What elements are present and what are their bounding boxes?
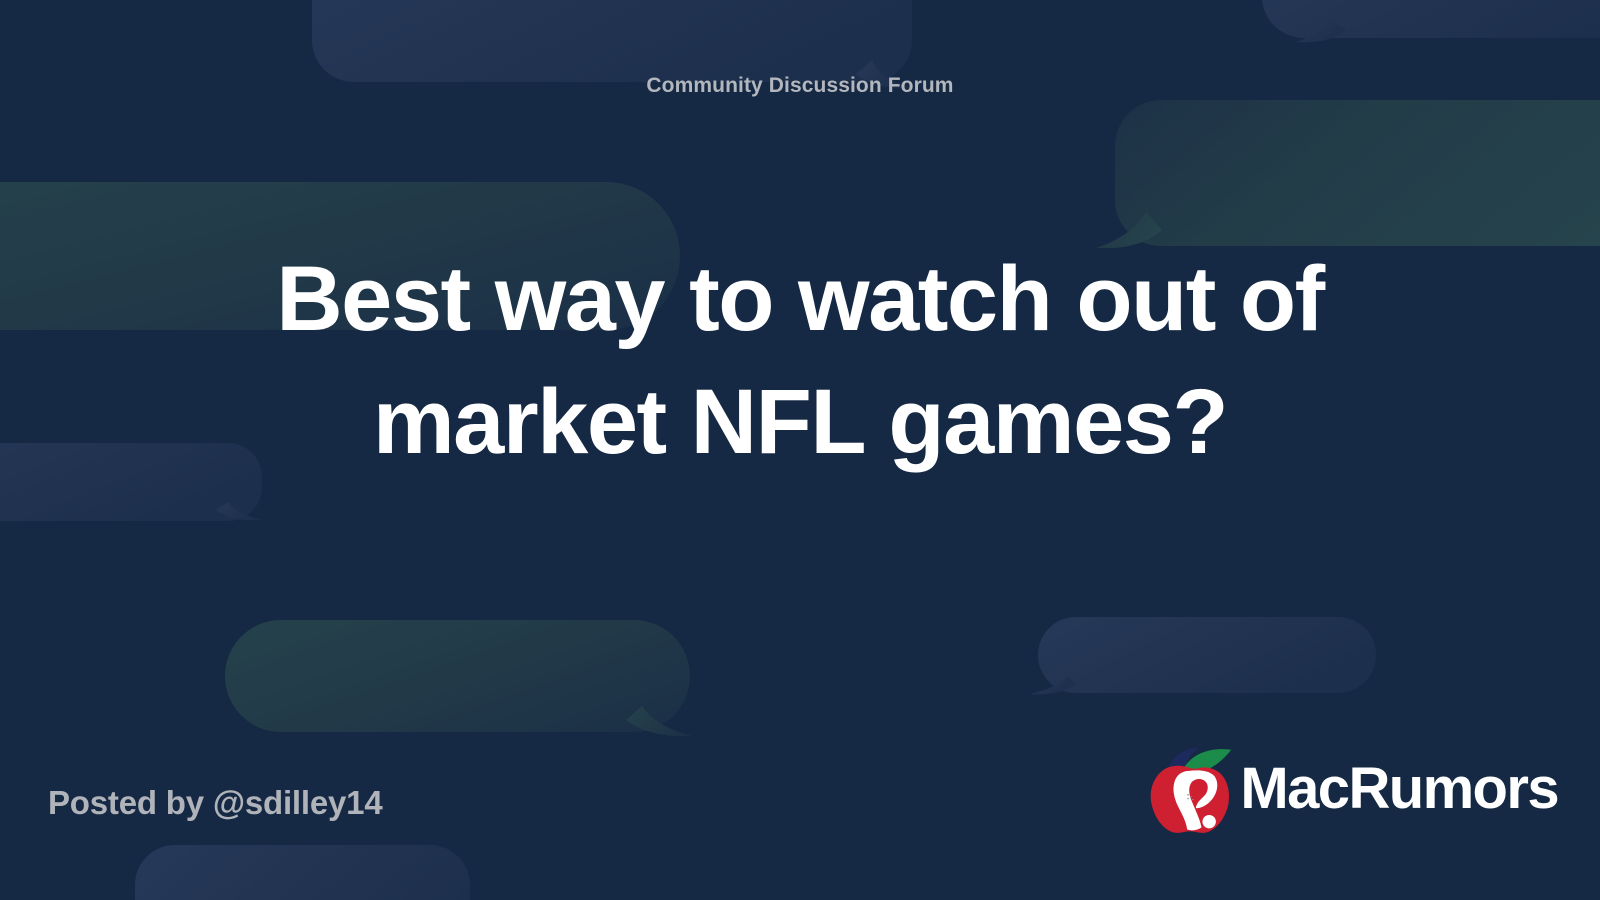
- macrumors-brand-lockup: MacRumors: [1142, 745, 1558, 837]
- macrumors-apple-question-mark-logo: [1142, 745, 1238, 837]
- forum-thread-social-card: Community Discussion Forum Best way to w…: [0, 0, 1600, 900]
- forum-eyebrow-label: Community Discussion Forum: [0, 74, 1600, 98]
- card-content: Community Discussion Forum Best way to w…: [0, 0, 1600, 900]
- thread-author-byline: Posted by @sdilley14: [48, 784, 382, 822]
- macrumors-wordmark: MacRumors: [1240, 760, 1558, 818]
- thread-title: Best way to watch out of market NFL game…: [180, 238, 1420, 485]
